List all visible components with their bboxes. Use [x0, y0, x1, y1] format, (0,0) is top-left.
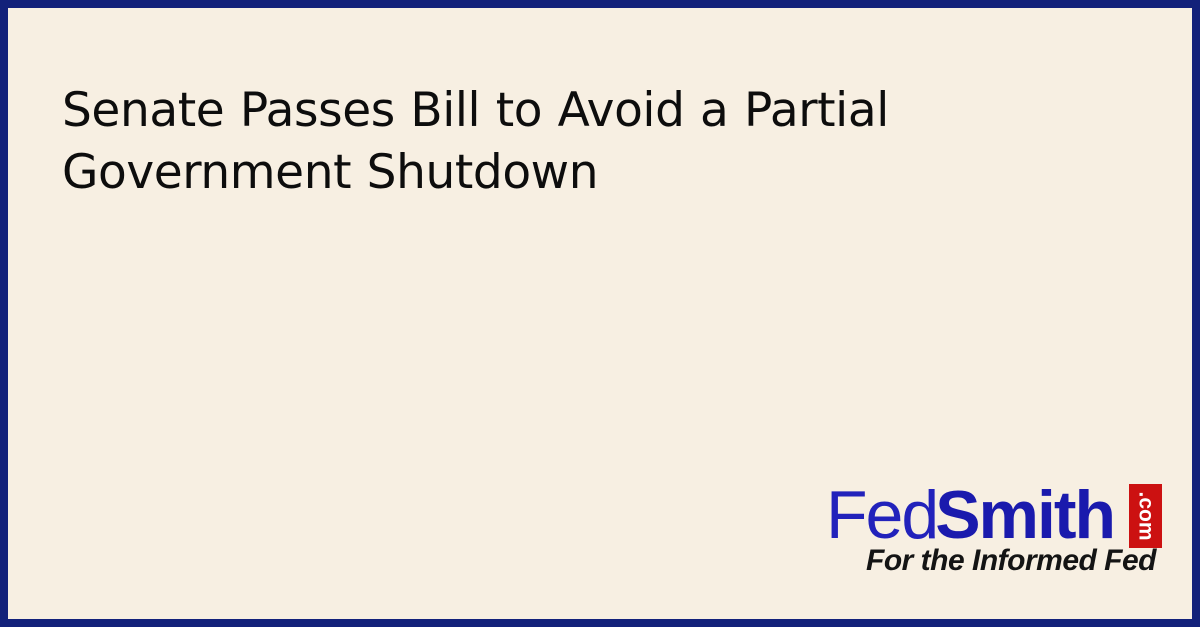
logo-tld-label: .com: [1135, 491, 1156, 540]
headline-container: Senate Passes Bill to Avoid a Partial Go…: [62, 80, 1062, 204]
logo-tld-badge: .com: [1129, 484, 1162, 548]
page-title: Senate Passes Bill to Avoid a Partial Go…: [62, 80, 1062, 204]
article-share-card: Senate Passes Bill to Avoid a Partial Go…: [0, 0, 1200, 627]
logo-tagline: For the Informed Fed: [866, 544, 1156, 578]
fedsmith-logo[interactable]: FedSmith .com For the Informed Fed: [826, 480, 1162, 584]
logo-wordmark: FedSmith .com: [826, 480, 1162, 550]
logo-text-smith: Smith: [935, 477, 1114, 553]
logo-text-fed: Fed: [826, 477, 937, 553]
